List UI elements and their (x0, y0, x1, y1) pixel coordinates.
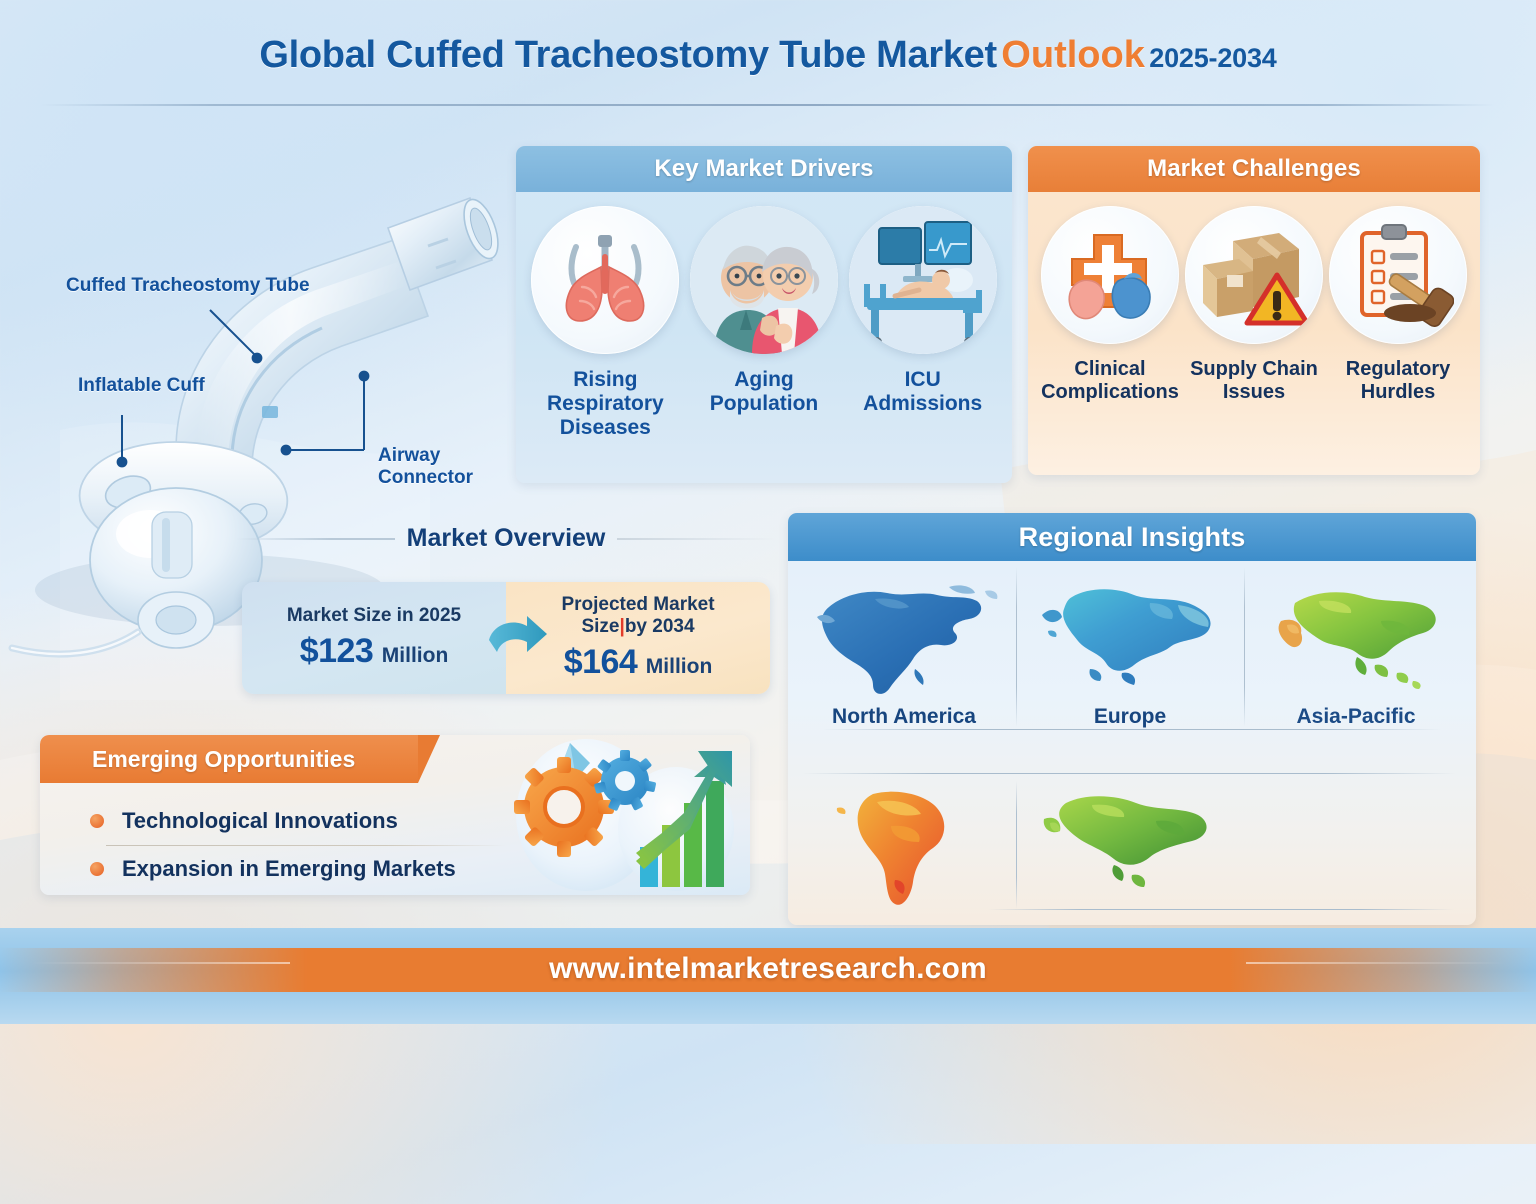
region-name: North America (832, 705, 976, 729)
region-europe: Europe (1020, 575, 1240, 729)
challenge-item-regulatory: Regulatory Hurdles (1326, 206, 1470, 404)
medical-cross-organs-icon (1041, 206, 1179, 344)
callout-connector-line2: Connector (378, 467, 473, 488)
asia-pacific-map-icon (1261, 575, 1451, 705)
page-title: Global Cuffed Tracheostomy Tube Market O… (0, 34, 1536, 77)
market-size-projected-number: $164 (564, 643, 638, 681)
dot-bullet-icon (90, 814, 104, 828)
projected-label-line2a: Size (581, 616, 619, 637)
region-latin-america-mea (796, 783, 1012, 913)
header: Global Cuffed Tracheostomy Tube Market O… (0, 0, 1536, 112)
drivers-items: Rising Respiratory Diseases (516, 192, 1012, 440)
driver-item-icu: ICU Admissions (843, 206, 1002, 416)
projected-label-line1: Projected Market (561, 594, 714, 615)
regional-divider-h2 (802, 773, 1456, 774)
challenges-panel-title: Market Challenges (1028, 146, 1480, 192)
driver-item-respiratory: Rising Respiratory Diseases (526, 206, 685, 440)
key-market-drivers-panel: Key Market Drivers Rising Re (516, 146, 1012, 483)
market-size-projected-unit: Million (646, 655, 713, 678)
page-title-accent: Outlook (1001, 34, 1145, 76)
callout-connector-line1: Airway (378, 445, 440, 466)
regional-divider-v1 (1016, 567, 1017, 727)
challenge-caption: Supply Chain Issues (1182, 358, 1326, 404)
regional-insights-panel: Regional Insights (788, 513, 1476, 925)
dot-bullet-icon (90, 862, 104, 876)
callout-label-connector: Airway Connector (378, 445, 498, 489)
callout-label-cuff: Inflatable Cuff (78, 375, 205, 397)
driver-item-aging: Aging Population (685, 206, 844, 416)
projected-label-line2b: by 2034 (625, 616, 695, 637)
region-north-america: North America (796, 575, 1012, 729)
market-overview-title: Market Overview (407, 524, 606, 553)
boxes-warning-icon (1185, 206, 1323, 344)
latin-america-map-icon (829, 783, 979, 913)
curved-arrow-right-icon (483, 614, 549, 660)
page-title-main: Global Cuffed Tracheostomy Tube Market (259, 34, 996, 76)
callout-label-tube: Cuffed Tracheostomy Tube (66, 275, 310, 297)
regional-divider-v3 (1016, 781, 1017, 909)
drivers-panel-title: Key Market Drivers (516, 146, 1012, 192)
europe-map-icon (1030, 575, 1230, 705)
regional-divider-v2 (1244, 567, 1245, 727)
market-size-current-unit: Million (382, 644, 449, 667)
icu-bed-monitor-icon (849, 206, 997, 354)
market-size-projected-label: Projected Market Size|by 2034 (561, 594, 714, 637)
regional-grid: North America Europe (788, 561, 1476, 925)
region-name: Asia-Pacific (1296, 705, 1415, 729)
market-size-projected-value: $164 Million (564, 643, 713, 682)
challenge-caption: Regulatory Hurdles (1326, 358, 1470, 404)
driver-caption: Rising Respiratory Diseases (530, 368, 680, 440)
emerging-item-expansion: Expansion in Emerging Markets (90, 845, 520, 893)
emerging-item-label: Expansion in Emerging Markets (122, 856, 456, 882)
market-size-current-value: $123 Million (300, 632, 449, 671)
market-overview-section: Market Overview Market Size in 2025 $123… (236, 518, 776, 700)
footer-band: www.intelmarketresearch.com (0, 928, 1536, 1024)
driver-caption: ICU Admissions (848, 368, 998, 416)
emerging-item-tech: Technological Innovations (90, 797, 520, 845)
driver-caption: Aging Population (689, 368, 839, 416)
latin-america-mea-map-icon (1030, 783, 1230, 913)
market-size-current-label: Market Size in 2025 (287, 605, 461, 626)
region-asia-pacific: Asia-Pacific (1248, 575, 1464, 729)
emerging-opportunities-panel: Emerging Opportunities Technological Inn… (40, 735, 750, 895)
market-size-current: Market Size in 2025 $123 Million (242, 582, 506, 694)
challenge-item-supply: Supply Chain Issues (1182, 206, 1326, 404)
region-mea-map-cell: Latin America & MEA (1020, 783, 1240, 925)
market-overview-header: Market Overview (236, 524, 776, 553)
overview-rule-left (236, 538, 395, 540)
emerging-items-divider (106, 845, 506, 846)
challenge-item-clinical: Clinical Complications (1038, 206, 1182, 404)
emerging-panel-title: Emerging Opportunities (40, 746, 355, 773)
elderly-couple-icon (690, 206, 838, 354)
header-divider (40, 104, 1496, 106)
north-america-map-icon (809, 575, 999, 705)
regional-divider-h1 (822, 729, 1442, 730)
clipboard-gavel-icon (1329, 206, 1467, 344)
emerging-panel-header: Emerging Opportunities (40, 735, 418, 783)
challenges-items: Clinical Complications Supply (1028, 192, 1480, 404)
footer-website-url[interactable]: www.intelmarketresearch.com (0, 952, 1536, 986)
overview-rule-right (617, 538, 776, 540)
market-size-current-number: $123 (300, 632, 374, 670)
region-name: Europe (1094, 705, 1166, 729)
lungs-icon (531, 206, 679, 354)
challenge-caption: Clinical Complications (1038, 358, 1182, 404)
market-challenges-panel: Market Challenges Clinical Complications (1028, 146, 1480, 475)
page-title-years: 2025-2034 (1149, 43, 1276, 73)
gears-growth-chart-icon (494, 737, 744, 893)
emerging-item-label: Technological Innovations (122, 808, 398, 834)
regional-panel-title: Regional Insights (788, 513, 1476, 561)
